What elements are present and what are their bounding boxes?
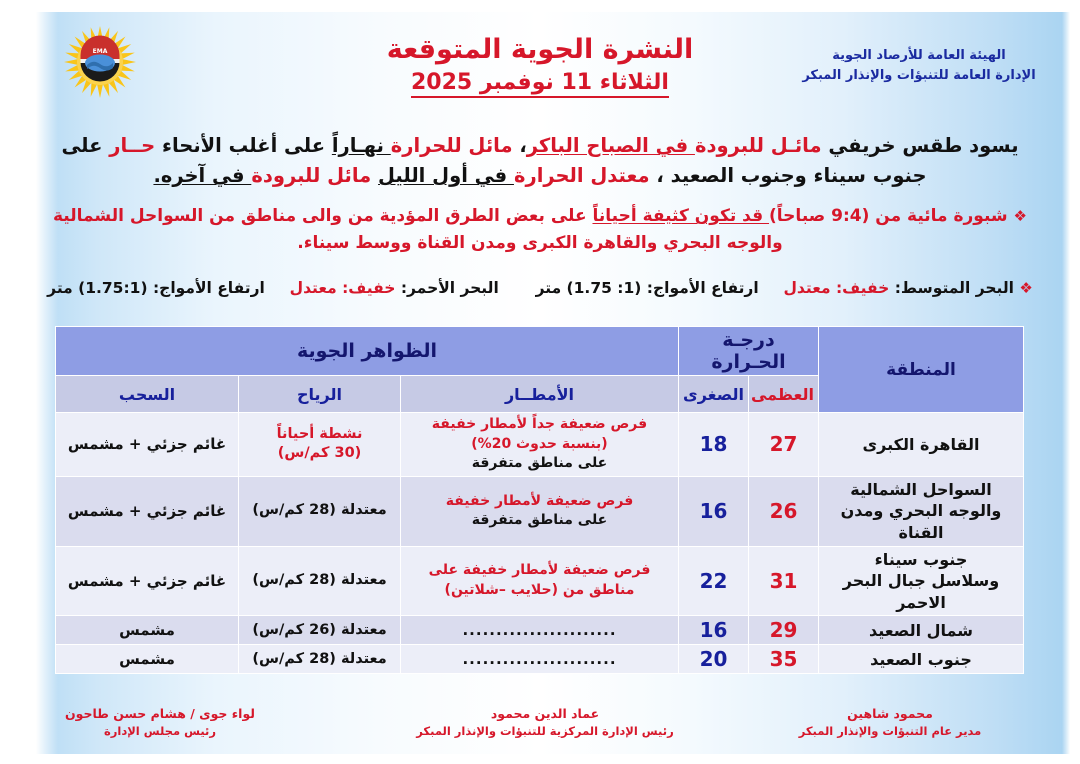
- cell-temp-max: 26: [749, 476, 819, 546]
- cell-temp-min: 16: [679, 616, 749, 645]
- cell-region-line2: وسلاسل جبال البحر الاحمر: [843, 571, 999, 612]
- cell-temp-min: 18: [679, 413, 749, 477]
- header-group-phenomena: الظواهر الجوية: [56, 327, 679, 376]
- cell-temp-max: 35: [749, 645, 819, 674]
- cell-wind-line-1: معتدلة (28 كم/س): [252, 502, 386, 518]
- cell-wind: نشطة أحياناً(30 كم/س): [239, 413, 401, 477]
- cell-temp-min: 16: [679, 476, 749, 546]
- signature-middle-name: عماد الدين محمود: [375, 705, 715, 723]
- cell-clouds: غائم جزئي + مشمس: [56, 546, 239, 616]
- cell-region: السواحل الشماليةوالوجه البحري ومدن القنا…: [819, 476, 1024, 546]
- cell-wind-line-1: معتدلة (28 كم/س): [252, 651, 386, 667]
- redsea-wave-label: ارتفاع الأمواج:: [153, 279, 265, 297]
- cell-temp-max: 27: [749, 413, 819, 477]
- bulletin-page: EMA النشرة الجوية المتوقعة الثلاثاء 11 ن…: [0, 0, 1080, 764]
- signature-left-name: لواء جوى / هشام حسن طاحون: [50, 705, 270, 723]
- sea-conditions-paragraph: ❖ البحر المتوسط: خفيف: معتدل ارتفاع الأم…: [46, 276, 1034, 300]
- cell-clouds: غائم جزئي + مشمس: [56, 476, 239, 546]
- cell-wind: معتدلة (28 كم/س): [239, 476, 401, 546]
- summary-seg-7: على أغلب الأنحاء: [155, 134, 332, 157]
- cell-rain-line-1: .......................: [462, 621, 616, 639]
- header-rain: الأمطــار: [401, 376, 679, 413]
- cell-region-line2: والوجه البحري ومدن القناة: [841, 501, 1002, 542]
- page-edge-right: [1062, 0, 1080, 764]
- cell-rain-line-3: على مناطق متفرقة: [472, 512, 607, 528]
- page-edge-left: [0, 0, 58, 764]
- cell-rain-line-1: فرص ضعيفة لأمطار خفيفة على: [429, 562, 651, 578]
- cell-wind-line-1: معتدلة (26 كم/س): [252, 622, 386, 638]
- cell-wind: معتدلة (28 كم/س): [239, 546, 401, 616]
- table-header-row-top: المنطقة درجـة الحـرارة الظواهر الجوية: [56, 327, 1024, 376]
- diamond-bullet-icon-sea: ❖: [1019, 279, 1032, 297]
- summary-seg-1: يسود طقس خريفي: [822, 134, 1019, 157]
- cell-rain-line-2: (بنسبة حدوث 20%): [471, 436, 607, 452]
- summary-seg-4: ،: [513, 134, 527, 157]
- mediterranean-wave-label: ارتفاع الأمواج:: [647, 279, 759, 297]
- cell-rain: .......................: [401, 616, 679, 645]
- cell-rain: فرص ضعيفة جداً لأمطار خفيفة(بنسبة حدوث 2…: [401, 413, 679, 477]
- cell-rain-line-1: فرص ضعيفة جداً لأمطار خفيفة: [432, 416, 647, 432]
- page-edge-bottom: [0, 754, 1080, 764]
- cell-rain-line-3: على مناطق متفرقة: [472, 455, 607, 471]
- summary-seg-3: في الصباح الباكر: [527, 134, 695, 157]
- table-row: شمال الصعيد2916.......................مع…: [56, 616, 1024, 645]
- summary-seg-10: معتدل الحرارة: [514, 164, 650, 187]
- fog-advisory-paragraph: ❖ شبورة مائية من (9:4 صباحاً) قد تكون كث…: [46, 203, 1034, 257]
- signature-right: محمود شاهين مدير عام التنبؤات والإنذار ا…: [740, 705, 1040, 740]
- bulletin-date: الثلاثاء 11 نوفمبر 2025: [411, 70, 669, 98]
- cell-rain-line-1: فرص ضعيفة لأمطار خفيفة: [446, 493, 634, 509]
- header-clouds: السحب: [56, 376, 239, 413]
- summary-seg-5: مائل للحرارة: [391, 134, 513, 157]
- cell-region: القاهرة الكبرى: [819, 413, 1024, 477]
- table-row: جنوب سيناءوسلاسل جبال البحر الاحمر3122فر…: [56, 546, 1024, 616]
- page-footer: محمود شاهين مدير عام التنبؤات والإنذار ا…: [50, 705, 1040, 753]
- cell-temp-max: 31: [749, 546, 819, 616]
- signature-middle-title: رئيس الإدارة المركزية للتنبؤات والإنذار …: [375, 723, 715, 740]
- signature-right-title: مدير عام التنبؤات والإنذار المبكر: [740, 723, 1040, 740]
- diamond-bullet-icon: ❖: [1014, 207, 1027, 225]
- redsea-state: خفيف: معتدل: [290, 279, 396, 297]
- signature-middle: عماد الدين محمود رئيس الإدارة المركزية ل…: [375, 705, 715, 740]
- mediterranean-label: البحر المتوسط:: [895, 279, 1014, 297]
- cell-temp-max: 29: [749, 616, 819, 645]
- cell-wind-line-1: معتدلة (28 كم/س): [252, 572, 386, 588]
- cell-wind: معتدلة (26 كم/س): [239, 616, 401, 645]
- cell-clouds: غائم جزئي + مشمس: [56, 413, 239, 477]
- redsea-label: البحر الأحمر:: [401, 279, 499, 297]
- summary-seg-6: نهـاراً: [332, 134, 391, 157]
- weather-summary-paragraph: يسود طقس خريفي مائـل للبرودة في الصباح ا…: [40, 131, 1040, 191]
- fog-seg-2: قد تكون كثيفة أحياناً: [592, 206, 769, 226]
- summary-seg-11: في أول الليل: [378, 164, 514, 187]
- page-edge-top: [0, 0, 1080, 12]
- cell-region: جنوب الصعيد: [819, 645, 1024, 674]
- cell-region: شمال الصعيد: [819, 616, 1024, 645]
- organization-name: الهيئة العامة للأرصاد الجوية: [774, 46, 1064, 66]
- cell-region: جنوب سيناءوسلاسل جبال البحر الاحمر: [819, 546, 1024, 616]
- table-row: السواحل الشماليةوالوجه البحري ومدن القنا…: [56, 476, 1024, 546]
- mediterranean-state: خفيف: معتدل: [783, 279, 889, 297]
- header-group-temperature: درجـة الحـرارة: [679, 327, 819, 376]
- cell-rain: فرص ضعيفة لأمطار خفيفة علىمناطق من (حلاي…: [401, 546, 679, 616]
- forecast-table: المنطقة درجـة الحـرارة الظواهر الجوية ال…: [55, 326, 1024, 674]
- summary-seg-2: مائـل للبرودة: [695, 134, 822, 157]
- cell-clouds: مشمس: [56, 616, 239, 645]
- redsea-wave-value: (1.75:1) متر: [47, 279, 147, 297]
- signature-left-title: رئيس مجلس الإدارة: [50, 723, 270, 740]
- cell-rain: .......................: [401, 645, 679, 674]
- cell-wind: معتدلة (28 كم/س): [239, 645, 401, 674]
- cell-rain: فرص ضعيفة لأمطار خفيفةعلى مناطق متفرقة: [401, 476, 679, 546]
- summary-seg-13: في آخره.: [153, 164, 251, 187]
- cell-clouds: مشمس: [56, 645, 239, 674]
- cell-temp-min: 22: [679, 546, 749, 616]
- header-region: المنطقة: [819, 327, 1024, 413]
- header-temp-max: العظمى: [749, 376, 819, 413]
- summary-seg-12: مائل للبرودة: [251, 164, 378, 187]
- forecast-table-body: القاهرة الكبرى2718فرص ضعيفة جداً لأمطار …: [56, 413, 1024, 674]
- forecast-table-wrapper: المنطقة درجـة الحـرارة الظواهر الجوية ال…: [56, 326, 1024, 674]
- cell-rain-line-2: مناطق من (حلايب –شلاتين): [445, 582, 635, 598]
- cell-wind-line-2: (30 كم/س): [278, 445, 362, 461]
- department-name: الإدارة العامة للتنبؤات والإنذار المبكر: [774, 66, 1064, 86]
- mediterranean-wave-value: (1: 1.75) متر: [536, 279, 642, 297]
- cell-rain-line-1: .......................: [462, 650, 616, 668]
- signature-right-name: محمود شاهين: [740, 705, 1040, 723]
- signature-left: لواء جوى / هشام حسن طاحون رئيس مجلس الإد…: [50, 705, 270, 740]
- summary-seg-8: حــار: [109, 134, 155, 157]
- fog-seg-1: شبورة مائية من (9:4 صباحاً): [769, 206, 1014, 226]
- header-wind: الرياح: [239, 376, 401, 413]
- organization-block: الهيئة العامة للأرصاد الجوية الإدارة الع…: [774, 46, 1064, 85]
- cell-temp-min: 20: [679, 645, 749, 674]
- table-row: جنوب الصعيد3520.......................مع…: [56, 645, 1024, 674]
- page-header: EMA النشرة الجوية المتوقعة الثلاثاء 11 ن…: [0, 18, 1080, 110]
- header-temp-min: الصغرى: [679, 376, 749, 413]
- table-row: القاهرة الكبرى2718فرص ضعيفة جداً لأمطار …: [56, 413, 1024, 477]
- cell-wind-line-1: نشطة أحياناً: [277, 426, 363, 442]
